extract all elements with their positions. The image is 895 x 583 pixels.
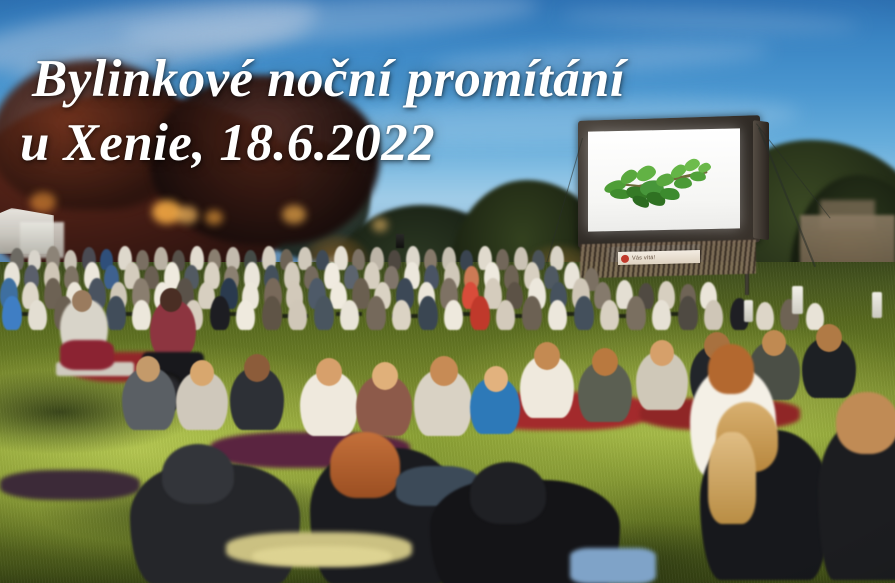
audience-crowd	[0, 0, 895, 583]
event-poster: Vás vítá!	[0, 0, 895, 583]
